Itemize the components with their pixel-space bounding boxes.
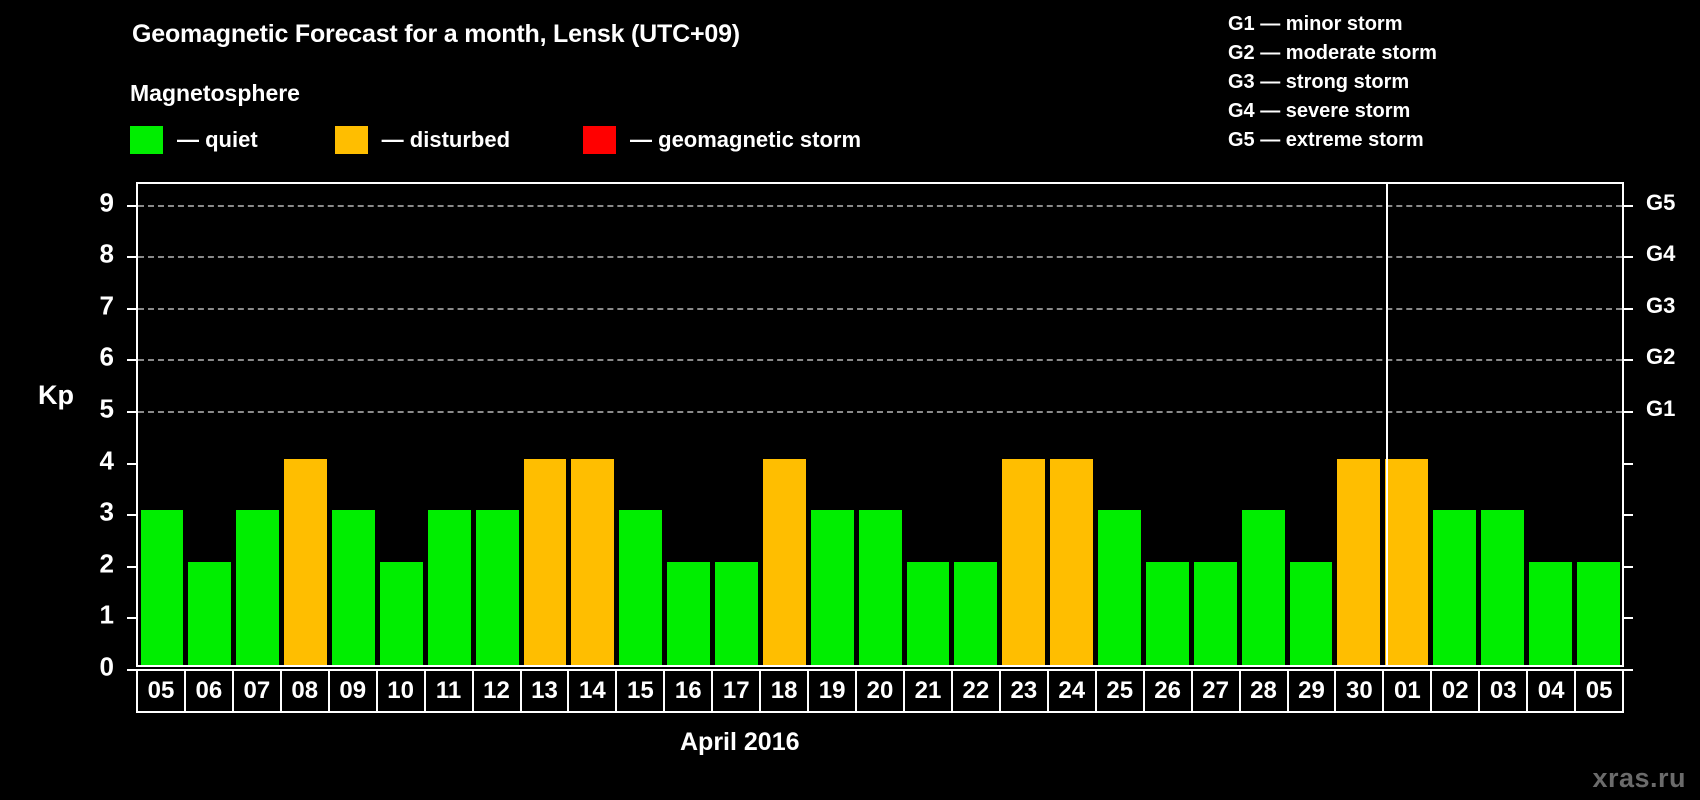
legend-swatch-geomagnetic-storm [583, 126, 616, 154]
geomagnetic-forecast-chart: Geomagnetic Forecast for a month, Lensk … [0, 0, 1700, 800]
legend-label-disturbed: — disturbed [382, 127, 510, 153]
legend-label-quiet: — quiet [177, 127, 258, 153]
storm-scale-row-g4: G4 — severe storm [1228, 97, 1688, 126]
day-label-27[interactable]: 27 [1193, 671, 1241, 711]
bar-03[interactable] [1481, 510, 1524, 665]
bar-22[interactable] [954, 562, 997, 665]
storm-scale-row-g2: G2 — moderate storm [1228, 39, 1688, 68]
y-tick-left-5 [127, 411, 136, 413]
page-title: Geomagnetic Forecast for a month, Lensk … [132, 20, 740, 49]
day-label-11[interactable]: 11 [426, 671, 474, 711]
y-tick-left-1 [127, 617, 136, 619]
day-label-07[interactable]: 07 [234, 671, 282, 711]
day-label-strip: 0506070809101112131415161718192021222324… [136, 669, 1624, 713]
bar-21[interactable] [907, 562, 950, 665]
bar-05[interactable] [141, 510, 184, 665]
y-tick-right-8 [1624, 256, 1633, 258]
day-label-29[interactable]: 29 [1289, 671, 1337, 711]
day-label-22[interactable]: 22 [953, 671, 1001, 711]
legend-swatch-quiet [130, 126, 163, 154]
gridline-kp-5 [138, 411, 1622, 413]
bar-17[interactable] [715, 562, 758, 665]
y-axis-label-0: 0 [78, 652, 114, 683]
storm-scale-row-g1: G1 — minor storm [1228, 10, 1688, 39]
day-label-03[interactable]: 03 [1480, 671, 1528, 711]
bar-16[interactable] [667, 562, 710, 665]
gridline-kp-8 [138, 256, 1622, 258]
y-tick-left-2 [127, 566, 136, 568]
y-axis-label-5: 5 [78, 394, 114, 425]
bar-30[interactable] [1337, 459, 1380, 665]
day-label-05[interactable]: 05 [138, 671, 186, 711]
day-label-13[interactable]: 13 [522, 671, 570, 711]
bar-06[interactable] [188, 562, 231, 665]
bar-05[interactable] [1577, 562, 1620, 665]
g-axis-label-g4: G4 [1646, 241, 1675, 267]
day-label-18[interactable]: 18 [761, 671, 809, 711]
plot-area [136, 182, 1624, 667]
legend-swatch-disturbed [335, 126, 368, 154]
day-label-09[interactable]: 09 [330, 671, 378, 711]
day-label-14[interactable]: 14 [569, 671, 617, 711]
watermark: xras.ru [1592, 763, 1686, 794]
gridline-kp-9 [138, 205, 1622, 207]
y-axis-label-7: 7 [78, 290, 114, 321]
y-axis-label-1: 1 [78, 600, 114, 631]
day-label-24[interactable]: 24 [1049, 671, 1097, 711]
y-tick-right-4 [1624, 463, 1633, 465]
storm-scale-row-g5: G5 — extreme storm [1228, 126, 1688, 155]
y-tick-right-6 [1624, 359, 1633, 361]
bar-10[interactable] [380, 562, 423, 665]
bar-20[interactable] [859, 510, 902, 665]
bar-02[interactable] [1433, 510, 1476, 665]
y-tick-right-2 [1624, 566, 1633, 568]
chart-subtitle: Magnetosphere [130, 80, 300, 107]
day-label-21[interactable]: 21 [905, 671, 953, 711]
day-label-23[interactable]: 23 [1001, 671, 1049, 711]
bar-13[interactable] [524, 459, 567, 665]
y-tick-right-7 [1624, 308, 1633, 310]
day-label-19[interactable]: 19 [809, 671, 857, 711]
bar-18[interactable] [763, 459, 806, 665]
y-tick-left-9 [127, 205, 136, 207]
y-tick-left-6 [127, 359, 136, 361]
y-axis-label-3: 3 [78, 497, 114, 528]
day-label-16[interactable]: 16 [665, 671, 713, 711]
bar-19[interactable] [811, 510, 854, 665]
y-tick-right-0 [1624, 669, 1633, 671]
y-tick-left-4 [127, 463, 136, 465]
g-axis-label-g3: G3 [1646, 293, 1675, 319]
y-tick-right-9 [1624, 205, 1633, 207]
bar-25[interactable] [1098, 510, 1141, 665]
bar-07[interactable] [236, 510, 279, 665]
gridline-kp-6 [138, 359, 1622, 361]
day-label-06[interactable]: 06 [186, 671, 234, 711]
y-tick-left-0 [127, 669, 136, 671]
day-label-17[interactable]: 17 [713, 671, 761, 711]
bar-08[interactable] [284, 459, 327, 665]
y-tick-right-1 [1624, 617, 1633, 619]
y-axis-title: Kp [38, 380, 74, 411]
bar-29[interactable] [1290, 562, 1333, 665]
y-axis-label-6: 6 [78, 342, 114, 373]
legend-item-disturbed: — disturbed [335, 126, 510, 154]
day-label-20[interactable]: 20 [857, 671, 905, 711]
day-label-08[interactable]: 08 [282, 671, 330, 711]
g-axis-label-g1: G1 [1646, 396, 1675, 422]
y-tick-right-5 [1624, 411, 1633, 413]
legend-label-geomagnetic-storm: — geomagnetic storm [630, 127, 861, 153]
bar-15[interactable] [619, 510, 662, 665]
y-axis-label-2: 2 [78, 548, 114, 579]
g-axis-label-g2: G2 [1646, 344, 1675, 370]
day-label-25[interactable]: 25 [1097, 671, 1145, 711]
day-label-05[interactable]: 05 [1576, 671, 1622, 711]
storm-scale-legend: G1 — minor stormG2 — moderate stormG3 — … [1228, 10, 1688, 155]
x-axis-title: April 2016 [680, 728, 800, 757]
legend-item-quiet: — quiet [130, 126, 258, 154]
bar-11[interactable] [428, 510, 471, 665]
bar-14[interactable] [571, 459, 614, 665]
day-label-04[interactable]: 04 [1528, 671, 1576, 711]
y-tick-right-3 [1624, 514, 1633, 516]
y-axis-label-8: 8 [78, 239, 114, 270]
day-label-15[interactable]: 15 [617, 671, 665, 711]
bar-04[interactable] [1529, 562, 1572, 665]
bar-09[interactable] [332, 510, 375, 665]
day-label-02[interactable]: 02 [1432, 671, 1480, 711]
bar-27[interactable] [1194, 562, 1237, 665]
day-label-01[interactable]: 01 [1384, 671, 1432, 711]
month-separator [1386, 184, 1388, 665]
storm-scale-row-g3: G3 — strong storm [1228, 68, 1688, 97]
bar-28[interactable] [1242, 510, 1285, 665]
bar-01[interactable] [1385, 459, 1428, 665]
day-label-28[interactable]: 28 [1241, 671, 1289, 711]
g-axis-label-g5: G5 [1646, 190, 1675, 216]
day-label-12[interactable]: 12 [474, 671, 522, 711]
y-tick-left-8 [127, 256, 136, 258]
legend: — quiet— disturbed— geomagnetic storm [130, 125, 861, 155]
bar-12[interactable] [476, 510, 519, 665]
bar-23[interactable] [1002, 459, 1045, 665]
day-label-30[interactable]: 30 [1336, 671, 1384, 711]
y-axis-label-9: 9 [78, 187, 114, 218]
day-label-26[interactable]: 26 [1145, 671, 1193, 711]
y-axis-label-4: 4 [78, 445, 114, 476]
bar-26[interactable] [1146, 562, 1189, 665]
gridline-kp-7 [138, 308, 1622, 310]
legend-item-geomagnetic-storm: — geomagnetic storm [583, 126, 861, 154]
bar-24[interactable] [1050, 459, 1093, 665]
y-tick-left-3 [127, 514, 136, 516]
day-label-10[interactable]: 10 [378, 671, 426, 711]
y-tick-left-7 [127, 308, 136, 310]
